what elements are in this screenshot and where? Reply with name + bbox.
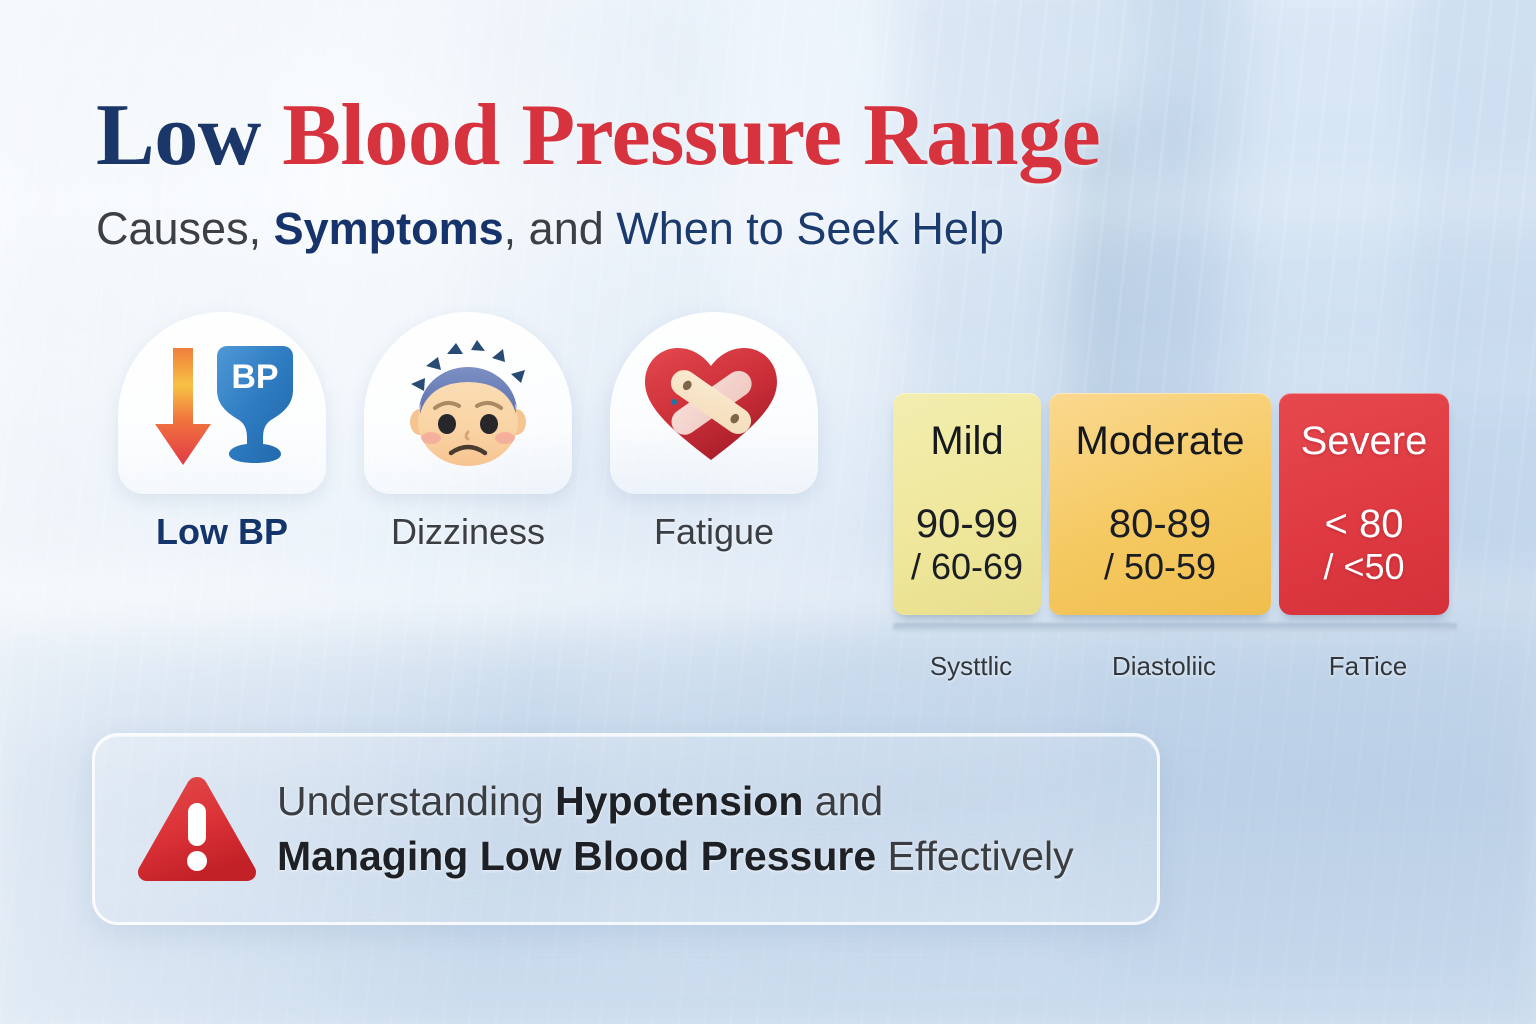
dizzy-face-svg <box>393 340 543 466</box>
page-subtitle: Causes, Symptoms, and When to Seek Help <box>96 204 1436 254</box>
bp-gauge-glass-icon: BP <box>213 342 297 466</box>
down-arrow-icon <box>153 346 213 468</box>
icon-bubble-low-bp: BP <box>118 312 326 494</box>
severity-systolic-mild: 90-99 <box>911 502 1023 546</box>
summary-banner-text: Understanding Hypotension and Managing L… <box>277 774 1074 884</box>
severity-diastolic-mild: / 60-69 <box>911 546 1023 587</box>
severity-card-moderate[interactable]: Moderate 80-89 / 50-59 <box>1049 393 1271 615</box>
subtitle-segment-symptoms: Symptoms <box>274 203 504 254</box>
header: Low Blood Pressure Range Causes, Symptom… <box>96 90 1436 253</box>
summary-banner: Understanding Hypotension and Managing L… <box>92 733 1160 925</box>
severity-systolic-severe: < 80 <box>1323 502 1404 546</box>
symptom-item-dizziness: Dizziness <box>364 312 572 550</box>
icon-bubble-dizziness <box>364 312 572 494</box>
subtitle-segment-and: , and <box>504 203 617 254</box>
symptom-label-low-bp: Low BP <box>156 514 288 550</box>
severity-name-severe: Severe <box>1301 421 1428 461</box>
severity-diastolic-moderate: / 50-59 <box>1104 546 1216 587</box>
severity-range-chart: Mild 90-99 / 60-69 Moderate 80-89 / 50-5… <box>893 393 1457 682</box>
symptom-label-dizziness: Dizziness <box>391 514 545 550</box>
severity-caption-1: Systtlic <box>893 651 1049 682</box>
title-segment-blood-pressure-range: Blood Pressure Range <box>282 87 1100 184</box>
subtitle-segment-causes: Causes, <box>96 203 274 254</box>
severity-diastolic-severe: / <50 <box>1323 546 1404 587</box>
severity-name-mild: Mild <box>930 421 1003 461</box>
svg-text:BP: BP <box>231 358 278 396</box>
summary-line1-segment-c: and <box>803 778 883 824</box>
summary-line-1: Understanding Hypotension and <box>277 774 1074 829</box>
summary-line2-segment-effectively: Effectively <box>876 833 1074 879</box>
severity-caption-3: FaTice <box>1279 651 1457 682</box>
heart-bandage-icon <box>639 340 789 466</box>
severity-systolic-moderate: 80-89 <box>1104 502 1216 546</box>
icon-bubble-fatigue <box>610 312 818 494</box>
severity-values-moderate: 80-89 / 50-59 <box>1104 502 1216 587</box>
infographic-poster: Low Blood Pressure Range Causes, Symptom… <box>0 0 1536 1024</box>
title-segment-low: Low <box>96 87 282 184</box>
subtitle-segment-when-to-seek-help: When to Seek Help <box>616 203 1004 254</box>
heart-bandage-svg <box>639 340 783 466</box>
page-title: Low Blood Pressure Range <box>96 90 1436 182</box>
severity-values-mild: 90-99 / 60-69 <box>911 502 1023 587</box>
severity-caption-row: Systtlic Diastoliic FaTice <box>893 651 1457 682</box>
severity-values-severe: < 80 / <50 <box>1323 502 1404 587</box>
summary-line2-segment-managing: Managing Low Blood Pressure <box>277 833 876 879</box>
dizzy-face-icon <box>393 340 543 466</box>
warning-triangle-icon <box>131 773 263 885</box>
symptom-label-fatigue: Fatigue <box>654 514 774 550</box>
symptom-item-low-bp: BP Low BP <box>118 312 326 550</box>
summary-line-2: Managing Low Blood Pressure Effectively <box>277 829 1074 884</box>
severity-card-severe[interactable]: Severe < 80 / <50 <box>1279 393 1449 615</box>
severity-name-moderate: Moderate <box>1076 421 1245 461</box>
symptom-icon-group: BP Low BP <box>118 312 818 550</box>
severity-card-row: Mild 90-99 / 60-69 Moderate 80-89 / 50-5… <box>893 393 1457 615</box>
severity-card-mild[interactable]: Mild 90-99 / 60-69 <box>893 393 1041 615</box>
symptom-item-fatigue: Fatigue <box>610 312 818 550</box>
summary-line1-segment-a: Understanding <box>277 778 555 824</box>
summary-line1-segment-hypotension: Hypotension <box>555 778 803 824</box>
severity-caption-2: Diastoliic <box>1049 651 1279 682</box>
warning-triangle-svg <box>135 773 259 885</box>
severity-baseline-shelf <box>893 623 1457 633</box>
low-bp-gauge-icon: BP <box>147 340 297 466</box>
